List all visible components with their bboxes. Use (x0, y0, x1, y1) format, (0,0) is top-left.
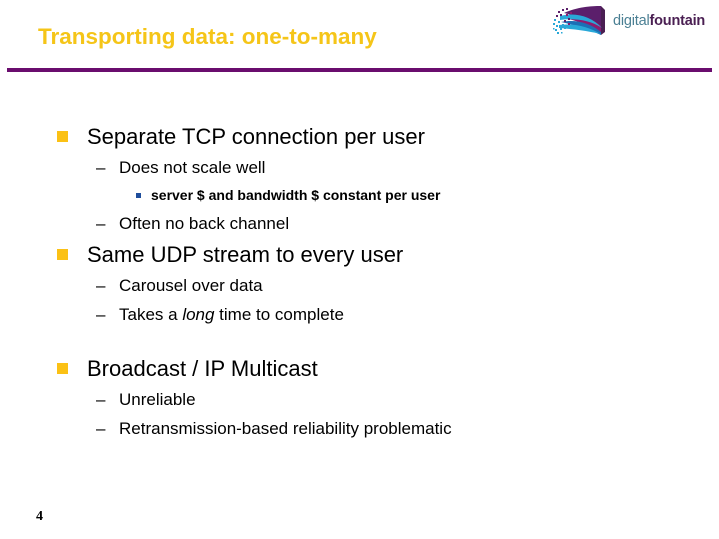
dash-bullet-icon: – (96, 273, 108, 299)
dash-bullet-icon: – (96, 416, 108, 442)
slide-title: Transporting data: one-to-many (38, 24, 377, 50)
bullet-level1: Broadcast / IP Multicast (0, 354, 719, 387)
bullet-level2-label: Unreliable (119, 387, 196, 413)
brand-logo: digitalfountain (551, 3, 715, 39)
bullet-text-emphasis: long (182, 305, 214, 324)
dash-bullet-icon: – (96, 155, 108, 181)
dash-bullet-icon: – (96, 302, 108, 328)
bullet-level3-label: server $ and bandwidth $ constant per us… (151, 184, 440, 206)
dash-bullet-icon: – (96, 387, 108, 413)
bullet-text-post: time to complete (214, 305, 343, 324)
bullet-level1: Same UDP stream to every user (0, 240, 719, 273)
brand-logo-text-digital: digital (613, 13, 650, 29)
square-bullet-icon (57, 131, 68, 142)
square-bullet-icon (57, 363, 68, 374)
brand-logo-text: digitalfountain (613, 14, 705, 29)
bullet-level2: – Takes a long time to complete (0, 302, 719, 331)
digital-fountain-logo-mark (551, 4, 607, 38)
bullet-level2-label: Does not scale well (119, 155, 265, 181)
bullet-level1-label: Broadcast / IP Multicast (87, 354, 318, 384)
bullet-level2: – Does not scale well (0, 155, 719, 184)
bullet-level2: – Carousel over data (0, 273, 719, 302)
small-square-bullet-icon (136, 193, 141, 198)
bullet-level2: – Often no back channel (0, 211, 719, 240)
bullet-text-pre: Takes a (119, 305, 182, 324)
bullet-level1-label: Same UDP stream to every user (87, 240, 403, 270)
bullet-level2: – Retransmission-based reliability probl… (0, 416, 719, 445)
bullet-level1-label: Separate TCP connection per user (87, 122, 425, 152)
bullet-level2-label: Often no back channel (119, 211, 289, 237)
square-bullet-icon (57, 249, 68, 260)
bullet-level2-label: Retransmission-based reliability problem… (119, 416, 452, 442)
page-number: 4 (36, 509, 43, 525)
group-spacer (0, 331, 719, 354)
bullet-level2-label: Takes a long time to complete (119, 302, 344, 328)
dash-bullet-icon: – (96, 211, 108, 237)
title-divider-rule (7, 68, 712, 72)
bullet-level1: Separate TCP connection per user (0, 122, 719, 155)
bullet-level3: server $ and bandwidth $ constant per us… (0, 184, 719, 211)
brand-logo-text-fountain: fountain (650, 13, 706, 29)
slide: digitalfountain Transporting data: one-t… (0, 0, 719, 539)
slide-body: Separate TCP connection per user – Does … (0, 122, 719, 445)
bullet-level2-label: Carousel over data (119, 273, 263, 299)
bullet-level2: – Unreliable (0, 387, 719, 416)
